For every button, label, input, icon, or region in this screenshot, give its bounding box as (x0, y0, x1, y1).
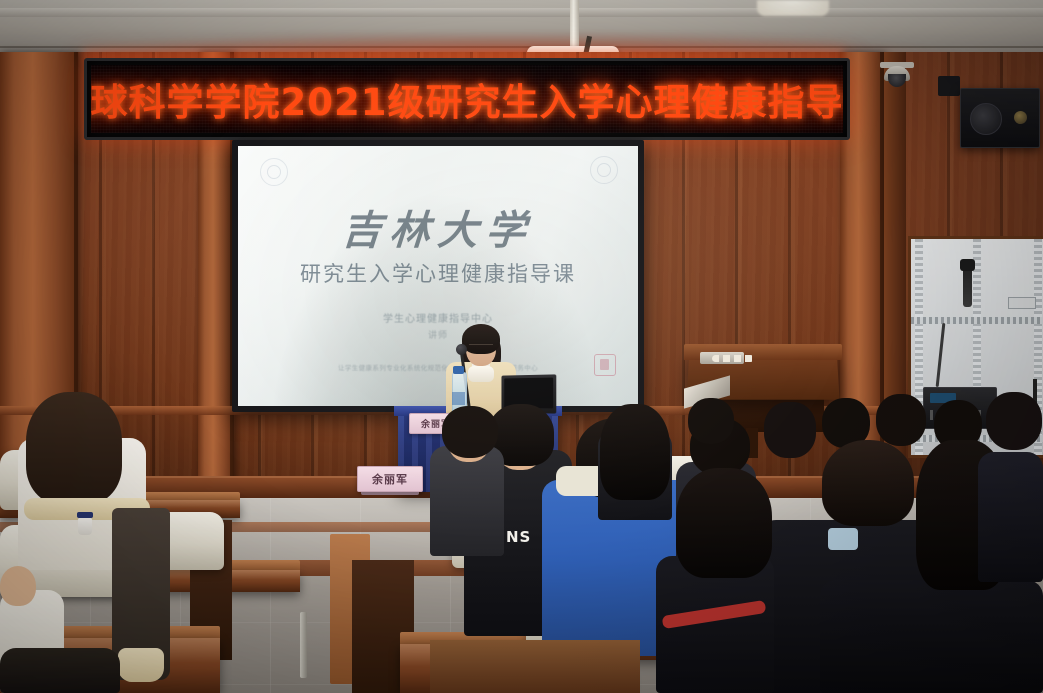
lecture-hall-photo: 地球科学学院2021级研究生入学心理健康指导课 吉林大学 研究生入学心理健康指导… (0, 0, 1043, 693)
student-8-torso (820, 580, 1043, 693)
paper-cup-lid (77, 512, 93, 518)
dome-security-camera-icon (884, 66, 910, 81)
foreground-desk-wood (430, 640, 640, 693)
led-banner-text: 地球科学学院2021级研究生入学心理健康指导课 (91, 72, 843, 126)
speaker-cone-icon (970, 103, 1002, 135)
led-banner: 地球科学学院2021级研究生入学心理健康指导课 (84, 58, 850, 140)
water-bottle-label (452, 392, 465, 405)
chair-leg-left (300, 612, 307, 678)
student-9-hair (676, 468, 772, 578)
student-back-6-hair (986, 392, 1042, 450)
student-7-hair-bun (822, 440, 914, 526)
student-1-hair (26, 392, 122, 504)
microphone-icon (456, 344, 467, 355)
student-10-torso (978, 452, 1043, 582)
student-3-shirt-text: NS (506, 528, 531, 546)
paper-cup (78, 518, 92, 535)
glasses-icon (469, 344, 493, 351)
projection-screen: 吉林大学 研究生入学心理健康指导课 学生心理健康指导中心 讲师 让学生健康系列专… (238, 146, 638, 406)
microphone-on-shelf-icon (963, 263, 972, 307)
presenter-collar (468, 366, 494, 382)
draped-coat-fur (118, 648, 164, 682)
student-2-head (0, 566, 36, 606)
cabinet-small-device (1008, 297, 1036, 309)
speaker-bracket (938, 76, 960, 96)
led-banner-screen: 地球科学学院2021级研究生入学心理健康指导课 (91, 65, 843, 133)
face-mask-icon (828, 528, 858, 550)
student-back-1-hair (688, 398, 734, 444)
student-3b-hair (442, 406, 498, 458)
wall-speaker (960, 88, 1040, 148)
student-back-4-hair (876, 394, 926, 446)
student-3b-torso (430, 446, 504, 556)
ceiling-light (757, 0, 829, 16)
water-bottle-cap (453, 366, 464, 374)
cabinet-shelf-upper (911, 317, 1043, 324)
podium-control-buttons[interactable] (712, 355, 754, 362)
nameplate-front: 余丽军 (357, 466, 423, 492)
speaker-tweeter-icon (1014, 111, 1027, 124)
cabinet-cable (936, 323, 946, 387)
foreground-left-shape (0, 648, 120, 693)
ceiling-beam (0, 8, 1043, 17)
student-back-2-hair (764, 402, 816, 458)
student-6-hair (600, 404, 670, 500)
screen-shadow (238, 146, 638, 406)
